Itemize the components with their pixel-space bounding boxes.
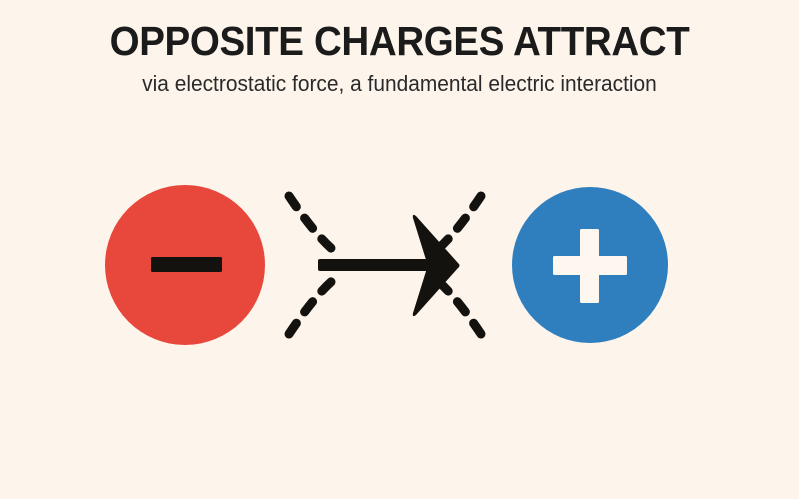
charge-attraction-diagram (0, 0, 799, 499)
field-line-bottom-left-icon (289, 281, 332, 334)
negative-charge (105, 185, 265, 345)
field-line-bottom-right-icon (438, 281, 481, 334)
positive-charge (512, 187, 668, 343)
minus-sign-icon (151, 257, 222, 272)
illustration-canvas: OPPOSITE CHARGES ATTRACT via electrostat… (0, 0, 799, 499)
field-line-top-right-icon (438, 196, 481, 249)
field-line-top-left-icon (289, 196, 332, 249)
force-arrow-icon (318, 215, 460, 316)
